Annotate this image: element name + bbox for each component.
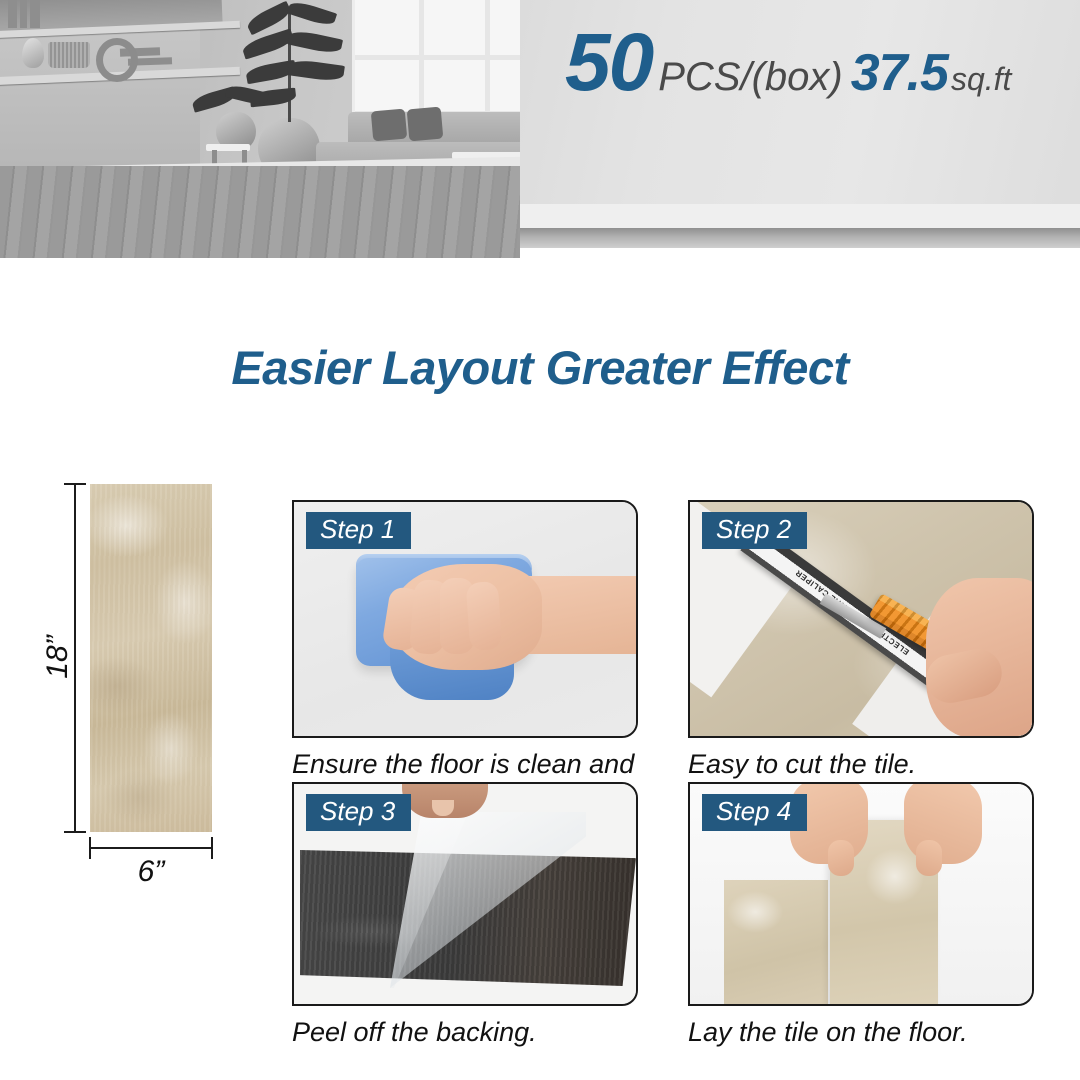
hero-banner: 50 PCS/(box) 37.5 sq.ft xyxy=(0,0,1080,258)
shelf-book xyxy=(8,0,17,28)
step-card-1: Step 1 xyxy=(292,500,638,738)
tile-width-label: 6” xyxy=(90,855,212,889)
shelf-book xyxy=(30,0,40,28)
shelf-ring-decor xyxy=(96,38,138,82)
width-dimension-line xyxy=(90,847,212,849)
tile-swatch xyxy=(90,484,212,832)
installed-tile-icon xyxy=(724,880,828,1006)
tile-dimension-diagram: 18” 6” xyxy=(40,470,270,870)
step-item-4: Step 4 Lay the tile on the floor. xyxy=(688,782,1036,1048)
shelf-vase xyxy=(22,38,44,68)
section-title: Easier Layout Greater Effect xyxy=(0,340,1080,395)
step-caption-4: Lay the tile on the floor. xyxy=(688,1018,1036,1048)
panel-floor-edge xyxy=(520,228,1080,248)
step-badge-1: Step 1 xyxy=(306,512,411,549)
step-badge-4: Step 4 xyxy=(702,794,807,831)
product-infographic: 50 PCS/(box) 37.5 sq.ft Easier Layout Gr… xyxy=(0,0,1080,1080)
finger-icon xyxy=(466,581,503,651)
installation-steps: Step 1 Ensure the floor is clean and dry… xyxy=(292,500,1060,1060)
thumb-icon xyxy=(828,840,854,876)
height-tick-bottom xyxy=(64,831,86,833)
plank-floor xyxy=(0,166,545,258)
shelf-book xyxy=(20,0,27,28)
step-badge-2: Step 2 xyxy=(702,512,807,549)
tile-texture xyxy=(90,484,212,832)
quantity-value: 50 xyxy=(565,22,652,104)
spec-headline: 50 PCS/(box) 37.5 sq.ft xyxy=(565,22,1075,112)
window-mullion xyxy=(355,55,545,60)
tile-height-label: 18” xyxy=(41,627,75,687)
shelf-basket xyxy=(48,42,90,68)
panel-bottom-strip xyxy=(520,248,1080,258)
sofa-pillow xyxy=(371,109,407,142)
step-caption-3: Peel off the backing. xyxy=(292,1018,640,1048)
room-photo xyxy=(0,0,545,258)
step-badge-3: Step 3 xyxy=(306,794,411,831)
height-tick-top xyxy=(64,483,86,485)
coverage-unit: sq.ft xyxy=(951,63,1011,95)
step-card-3: Step 3 xyxy=(292,782,638,1006)
step-card-4: Step 4 xyxy=(688,782,1034,1006)
sofa-pillow xyxy=(407,107,444,142)
step-caption-2: Easy to cut the tile. xyxy=(688,750,1036,780)
panel-baseboard xyxy=(520,204,1080,228)
step-item-1: Step 1 Ensure the floor is clean and dry… xyxy=(292,500,640,809)
step-item-3: Step 3 Peel off the backing. xyxy=(292,782,640,1048)
coverage-value: 37.5 xyxy=(851,47,948,99)
step-item-2: ELECTRONIC DIGITAL CALIPER Step 2 Easy t… xyxy=(688,500,1036,780)
thumb-icon xyxy=(916,840,942,876)
quantity-unit: PCS/(box) xyxy=(658,57,843,97)
step-card-2: ELECTRONIC DIGITAL CALIPER Step 2 xyxy=(688,500,1034,738)
